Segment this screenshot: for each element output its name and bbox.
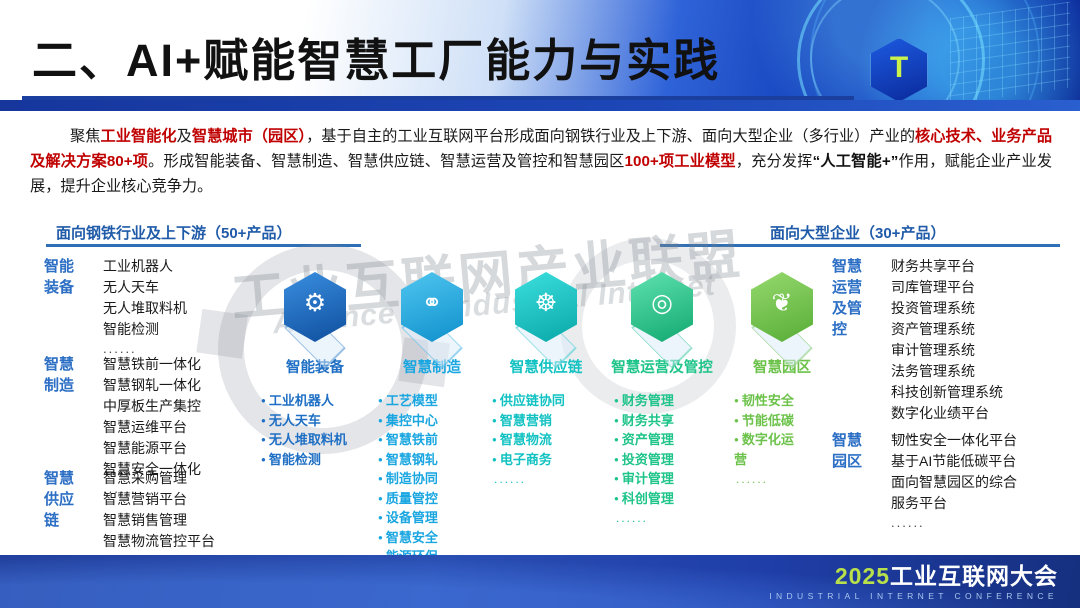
para-seg-4: 。形成智能装备、智慧制造、智慧供应链、智慧运营及管控和智慧园区 [148,153,624,170]
list-item[interactable]: 无人天车 [261,411,375,431]
list-item[interactable]: 智慧物流 [492,430,606,450]
card1-icon-area: ⚭ [372,272,492,350]
card-intelligent-equipment[interactable]: ⚙ 智能装备 工业机器人 无人天车 无人堆取料机 智能检测 [255,272,375,469]
conference-name-cn: 工业互联网大会 [890,563,1058,589]
para-seg-5: ，充分发挥 [736,153,813,170]
card3-item-list: 财务管理 财务共享 资产管理 投资管理 审计管理 科创管理 [592,391,732,508]
list-item[interactable]: 财务共享 [614,411,732,431]
para-highlight-1: 工业智能化 [101,128,177,145]
list-item[interactable]: 智慧安全 [378,528,492,548]
conference-logo: 2025工业互联网大会 INDUSTRIAL INTERNET CONFEREN… [769,563,1058,601]
card0-item-list: 工业机器人 无人天车 无人堆取料机 智能检测 [255,391,375,469]
para-seg-2: 及 [177,128,192,145]
card1-glyph: ⚭ [401,290,463,315]
para-highlight-4: 100+项工业模型 [625,153,736,170]
para-seg-3: ，基于自主的工业互联网平台形成面向钢铁行业及上下游、面向大型企业（多行业）产业的 [306,128,915,145]
card2-item-list: 供应链协同 智慧营销 智慧物流 电子商务 [486,391,606,469]
list-item[interactable]: 科创管理 [614,489,732,509]
right-group-operations-list: 财务共享平台 司库管理平台 投资管理系统 资产管理系统 审计管理系统 法务管理系… [891,256,1003,424]
right-group-park-dots: ...... [891,514,1017,532]
conference-year: 2025 [835,563,890,589]
list-item[interactable]: 韧性安全 [734,391,842,411]
left-group-supplychain: 智慧 供应 链 智慧采购管理 智慧营销平台 智慧销售管理 智慧物流管控平台 [44,468,215,552]
list-item[interactable]: 质量管控 [378,489,492,509]
slide-root: 二、AI+赋能智慧工厂能力与实践 聚焦工业智能化及智慧城市（园区），基于自主的工… [0,0,1080,608]
card0-glyph: ⚙ [284,290,346,315]
list-item-continuation[interactable]: 营 [734,450,842,470]
right-group-park-list: 韧性安全一体化平台 基于AI节能低碳平台 面向智慧园区的综合 服务平台 [891,430,1017,514]
right-group-operations: 智慧 运营 及管 控 财务共享平台 司库管理平台 投资管理系统 资产管理系统 审… [832,256,1003,442]
list-item[interactable]: 资产管理 [614,430,732,450]
left-group-equipment-tag: 智能 装备 [44,256,94,358]
header-blue-band [0,100,1080,111]
para-highlight-2: 智慧城市（园区） [192,128,306,145]
left-group-equipment: 智能 装备 工业机器人 无人天车 无人堆取料机 智能检测 ...... [44,256,187,358]
list-item[interactable]: 智慧营销 [492,411,606,431]
para-bold-ai: “人工智能+” [813,153,899,170]
list-item[interactable]: 智能检测 [261,450,375,470]
card4-dots: ...... [722,472,842,486]
slide-header: 二、AI+赋能智慧工厂能力与实践 [0,0,1080,106]
list-item[interactable]: 投资管理 [614,450,732,470]
left-group-manufacturing-list: 智慧铁前一体化 智慧钢轧一体化 中厚板生产集控 智慧运维平台 智慧能源平台 智慧… [103,354,201,480]
intro-paragraph: 聚焦工业智能化及智慧城市（园区），基于自主的工业互联网平台形成面向钢铁行业及上下… [30,124,1052,199]
card-smart-manufacturing[interactable]: ⚭ 智慧制造 工艺模型 集控中心 智慧铁前 智慧钢轧 制造协同 质量管控 设备管… [372,272,492,586]
list-item[interactable]: 集控中心 [378,411,492,431]
list-item[interactable]: 电子商务 [492,450,606,470]
card-smart-operations[interactable]: ◎ 智慧运营及管控 财务管理 财务共享 资产管理 投资管理 审计管理 科创管理 … [592,272,732,525]
card4-glyph: ❦ [751,290,813,315]
section-rule-left [46,244,361,247]
card-smart-supply-chain[interactable]: ☸ 智慧供应链 供应链协同 智慧营销 智慧物流 电子商务 ...... [486,272,606,486]
card3-icon-area: ◎ [592,272,732,350]
card0-icon-area: ⚙ [255,272,375,350]
card2-dots: ...... [486,472,606,486]
conference-logo-main: 2025工业互联网大会 [769,563,1058,589]
card2-glyph: ☸ [515,290,577,315]
list-item[interactable]: 数字化运 [734,430,842,450]
card4-item-list: 韧性安全 节能低碳 数字化运 营 [722,391,842,469]
right-group-park: 智慧 园区 韧性安全一体化平台 基于AI节能低碳平台 面向智慧园区的综合 服务平… [832,430,1017,532]
list-item[interactable]: 节能低碳 [734,411,842,431]
conference-name-en: INDUSTRIAL INTERNET CONFERENCE [769,591,1058,601]
list-item[interactable]: 设备管理 [378,508,492,528]
card4-icon-area: ❦ [722,272,842,350]
list-item[interactable]: 工艺模型 [378,391,492,411]
slide-footer: 2025工业互联网大会 INDUSTRIAL INTERNET CONFEREN… [0,555,1080,608]
left-group-supplychain-tag: 智慧 供应 链 [44,468,94,552]
section-header-steel: 面向钢铁行业及上下游（50+产品） [56,222,291,246]
list-item[interactable]: 智慧铁前 [378,430,492,450]
card2-icon-area: ☸ [486,272,606,350]
list-item[interactable]: 智慧钢轧 [378,450,492,470]
card-smart-park[interactable]: ❦ 智慧园区 韧性安全 节能低碳 数字化运 营 ...... [722,272,842,486]
card3-glyph: ◎ [631,290,693,315]
list-item[interactable]: 无人堆取料机 [261,430,375,450]
left-group-equipment-list: 工业机器人 无人天车 无人堆取料机 智能检测 [103,256,187,340]
section-rule-right [660,244,1060,247]
page-title: 二、AI+赋能智慧工厂能力与实践 [32,24,720,89]
list-item[interactable]: 制造协同 [378,469,492,489]
list-item[interactable]: 审计管理 [614,469,732,489]
list-item[interactable]: 供应链协同 [492,391,606,411]
list-item[interactable]: 财务管理 [614,391,732,411]
left-group-supplychain-list: 智慧采购管理 智慧营销平台 智慧销售管理 智慧物流管控平台 [103,468,215,552]
card3-dots: ...... [592,511,732,525]
list-item[interactable]: 工业机器人 [261,391,375,411]
para-seg-1: 聚焦 [70,128,101,145]
section-header-enterprise: 面向大型企业（30+产品） [770,222,945,246]
